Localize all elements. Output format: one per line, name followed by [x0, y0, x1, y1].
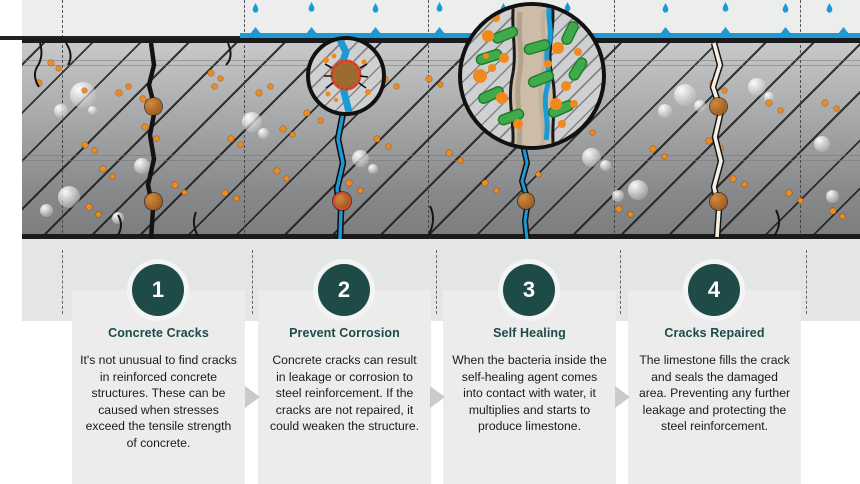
step-number-1-label: 1	[152, 277, 164, 303]
infographic-stage: Concrete Cracks It's not unusual to find…	[0, 0, 860, 484]
step-number-1[interactable]: 1	[132, 264, 184, 316]
step-divider-dash	[62, 250, 63, 314]
step-divider-dash	[806, 250, 807, 314]
magnifier-3-content	[462, 6, 602, 146]
step-title-4: Cracks Repaired	[628, 326, 801, 340]
step-number-4[interactable]: 4	[688, 264, 740, 316]
hairline-crack	[118, 215, 121, 235]
steel-reinforcement-node	[518, 193, 534, 209]
magnifier-self-healing	[458, 2, 606, 150]
steel-reinforcement-node	[145, 193, 162, 210]
step-title-1: Concrete Cracks	[72, 326, 245, 340]
step-body-1: It's not unusual to find cracks in reinf…	[80, 352, 237, 452]
step-number-3-label: 3	[523, 277, 535, 303]
step-card-2[interactable]: Prevent Corrosion Concrete cracks can re…	[258, 290, 431, 484]
steel-reinforcement-node	[333, 192, 351, 210]
steel-reinforcement-node	[710, 193, 727, 210]
magnifier-2-content	[310, 40, 382, 112]
step-card-4[interactable]: Cracks Repaired The limestone fills the …	[628, 290, 801, 484]
step-body-2: Concrete cracks can result in leakage or…	[266, 352, 423, 435]
hairline-crack	[35, 43, 42, 87]
crack-overlay	[0, 0, 860, 268]
hairline-crack	[226, 43, 231, 65]
hairline-crack	[66, 43, 71, 65]
step-body-3: When the bacteria inside the self-healin…	[451, 352, 608, 435]
step-number-2[interactable]: 2	[318, 264, 370, 316]
step-number-3[interactable]: 3	[503, 264, 555, 316]
hairline-crack	[428, 206, 433, 236]
step-divider-dash	[436, 250, 437, 314]
step-divider-dash	[620, 250, 621, 314]
step-number-4-label: 4	[708, 277, 720, 303]
step-card-3[interactable]: Self Healing When the bacteria inside th…	[443, 290, 616, 484]
steel-reinforcement-node	[710, 98, 727, 115]
steel-reinforcement-node	[145, 98, 162, 115]
hairline-crack	[194, 212, 198, 236]
concrete-illustration	[0, 0, 860, 268]
step-number-2-label: 2	[338, 277, 350, 303]
step-divider-dash	[252, 250, 253, 314]
step-title-3: Self Healing	[443, 326, 616, 340]
step-card-1[interactable]: Concrete Cracks It's not unusual to find…	[72, 290, 245, 484]
step-title-2: Prevent Corrosion	[258, 326, 431, 340]
step-body-4: The limestone fills the crack and seals …	[636, 352, 793, 435]
hairline-crack	[774, 210, 779, 236]
magnifier-corrosion	[306, 36, 386, 116]
